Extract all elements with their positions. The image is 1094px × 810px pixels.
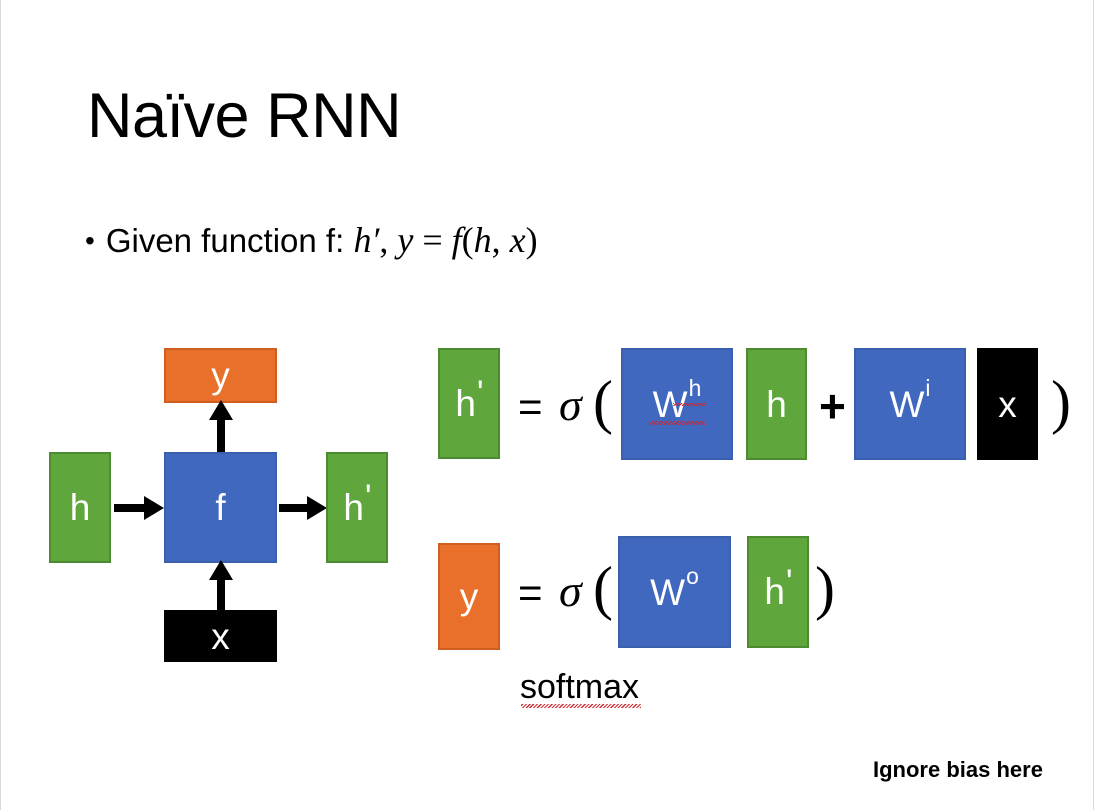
diagram-box-f-label: f xyxy=(215,489,225,526)
arrow-f-to-y xyxy=(207,400,235,456)
eq1-weight-box-wi: Wi xyxy=(854,348,966,460)
math-h: h xyxy=(474,220,492,260)
arrow-h-to-f xyxy=(114,494,164,522)
eq2-equals-sign: = xyxy=(518,572,543,614)
math-x: x xyxy=(510,220,526,260)
footer-note: Ignore bias here xyxy=(873,757,1043,783)
math-open-paren: ( xyxy=(462,220,474,260)
eq2-close-paren: ) xyxy=(815,558,835,618)
eq1-weight-wi-label: Wi xyxy=(889,386,930,423)
diagram-box-h-label: h xyxy=(70,489,91,526)
eq1-open-paren: ( xyxy=(593,372,613,432)
eq2-state-box-h-prime: h' xyxy=(747,536,809,648)
bullet-line: • Given function f: h′, y = f(h, x) xyxy=(85,218,538,263)
math-comma: , xyxy=(379,220,397,260)
eq1-state-box-h: h xyxy=(746,348,807,460)
eq1-state-h-label: h xyxy=(766,386,787,423)
page-title: Naïve RNN xyxy=(87,78,401,154)
eq1-close-paren: ) xyxy=(1051,372,1071,432)
eq2-open-paren: ( xyxy=(593,558,613,618)
slide-canvas: Naïve RNN • Given function f: h′, y = f(… xyxy=(0,0,1094,810)
eq2-weight-box-wo: Wo xyxy=(618,536,731,648)
eq2-sigma-symbol: σ xyxy=(559,568,582,614)
arrow-x-to-f xyxy=(207,560,235,614)
diagram-box-f: f xyxy=(164,452,277,563)
eq1-input-box-x: x xyxy=(977,348,1038,460)
math-f: f xyxy=(452,220,462,260)
math-close-paren: ) xyxy=(526,220,538,260)
spellcheck-underline-wh-sup xyxy=(673,403,705,406)
spellcheck-underline-wh xyxy=(649,421,705,425)
eq1-plus-sign: + xyxy=(819,383,846,429)
eq2-state-h-prime-label: h' xyxy=(764,573,791,610)
bullet-prefix: Given function f: xyxy=(106,222,354,259)
arrow-f-to-h-prime xyxy=(279,494,327,522)
diagram-box-h-prime: h' xyxy=(326,452,388,563)
bullet-dot-icon: • xyxy=(85,227,95,255)
math-h-prime: h′ xyxy=(353,220,379,260)
math-y: y xyxy=(397,220,413,260)
eq1-lhs-label: h' xyxy=(455,385,482,422)
math-comma-2: , xyxy=(492,220,510,260)
diagram-box-h: h xyxy=(49,452,111,563)
diagram-box-y: y xyxy=(164,348,277,403)
eq1-lhs-box-h-prime: h' xyxy=(438,348,500,459)
bullet-text: Given function f: h′, y = f(h, x) xyxy=(106,218,538,263)
eq2-lhs-box-y: y xyxy=(438,543,500,650)
eq1-input-x-label: x xyxy=(998,386,1017,423)
softmax-annotation: softmax xyxy=(520,668,639,707)
eq2-lhs-label: y xyxy=(460,578,479,615)
diagram-box-h-prime-label: h' xyxy=(343,489,370,526)
spellcheck-underline-softmax xyxy=(521,704,641,708)
eq2-weight-wo-label: Wo xyxy=(650,574,699,611)
eq1-equals-sign: = xyxy=(518,386,543,428)
diagram-box-y-label: y xyxy=(211,357,230,394)
eq1-sigma-symbol: σ xyxy=(559,382,582,428)
math-equals: = xyxy=(413,220,451,260)
diagram-box-x: x xyxy=(164,610,277,662)
diagram-box-x-label: x xyxy=(211,618,230,655)
